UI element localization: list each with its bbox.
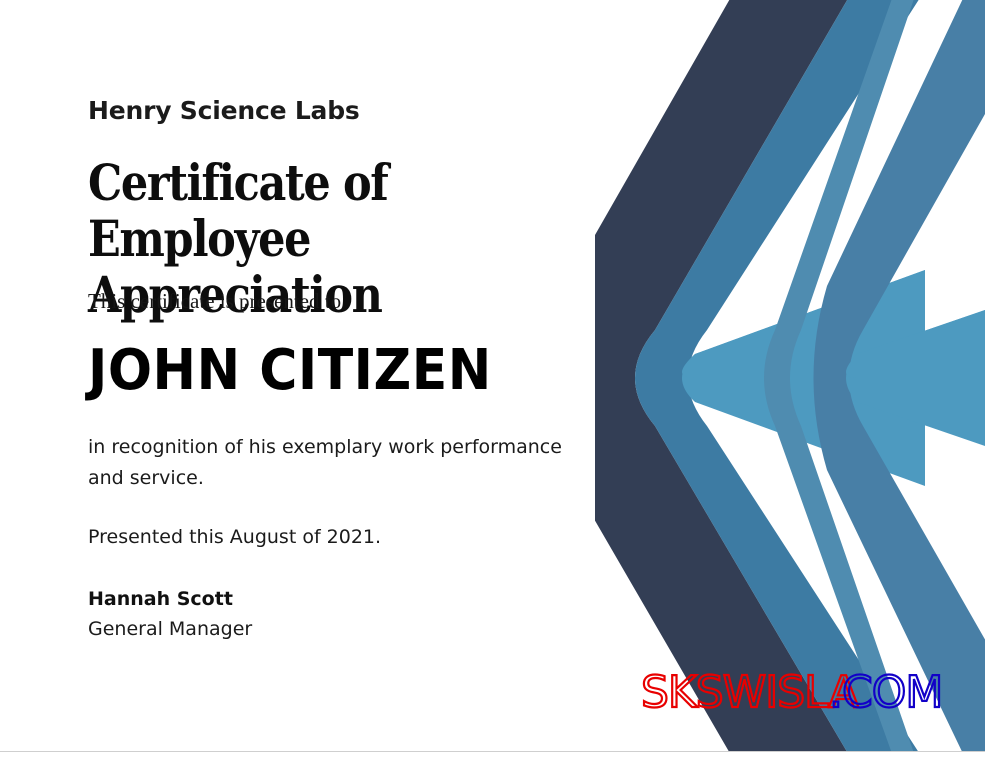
chevron-2-light-wedge-upper bbox=[846, 286, 985, 378]
presented-to-lead-text: This certificate is presented to bbox=[88, 289, 341, 314]
signer-title: General Manager bbox=[88, 618, 252, 640]
chevron-light-wedge bbox=[682, 270, 925, 486]
recipient-name: JOHN CITIZEN bbox=[88, 338, 492, 403]
chevron-navy-band bbox=[595, 0, 853, 752]
site-watermark: SKSWISLA .COM bbox=[641, 665, 951, 721]
chevron-blue-body bbox=[635, 0, 925, 752]
chevron-light-wedge-upper bbox=[682, 270, 925, 378]
chevron-2-light-wedge bbox=[846, 286, 985, 470]
bottom-divider-rule bbox=[0, 751, 985, 752]
presentation-date-line: Presented this August of 2021. bbox=[88, 526, 381, 548]
certificate-title-line-1: Certificate of Employee bbox=[88, 155, 544, 267]
chevron-2-body bbox=[814, 0, 985, 752]
citation-line-2: and service. bbox=[88, 463, 608, 494]
watermark-text-primary: SKSWISLA bbox=[641, 667, 859, 718]
certificate-document: Henry Science Labs Certificate of Employ… bbox=[0, 0, 985, 762]
organization-name: Henry Science Labs bbox=[88, 96, 360, 125]
watermark-text-secondary: .COM bbox=[829, 667, 942, 718]
signer-name: Hannah Scott bbox=[88, 588, 233, 610]
citation-line-1: in recognition of his exemplary work per… bbox=[88, 432, 608, 463]
citation-paragraph: in recognition of his exemplary work per… bbox=[88, 432, 608, 494]
chevron-band-artwork bbox=[595, 0, 985, 752]
chevron-2-shadow bbox=[764, 0, 917, 752]
